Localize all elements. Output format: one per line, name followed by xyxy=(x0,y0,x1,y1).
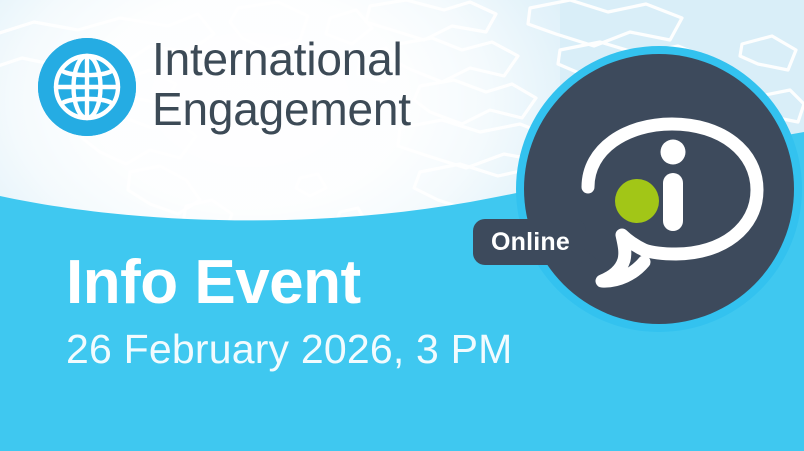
green-status-dot xyxy=(615,179,659,223)
event-banner: International Engagement Online xyxy=(0,0,804,451)
info-emblem xyxy=(514,44,804,334)
wordmark-title: International Engagement xyxy=(152,35,411,134)
wordmark: International Engagement xyxy=(38,38,411,136)
globe-icon xyxy=(38,38,136,136)
headline-block: Info Event 26 February 2026, 3 PM xyxy=(66,252,513,371)
info-speech-bubble-icon xyxy=(514,44,804,334)
page-title: Info Event xyxy=(66,252,513,314)
letter-i-glyph xyxy=(661,140,686,232)
event-datetime: 26 February 2026, 3 PM xyxy=(66,328,513,371)
